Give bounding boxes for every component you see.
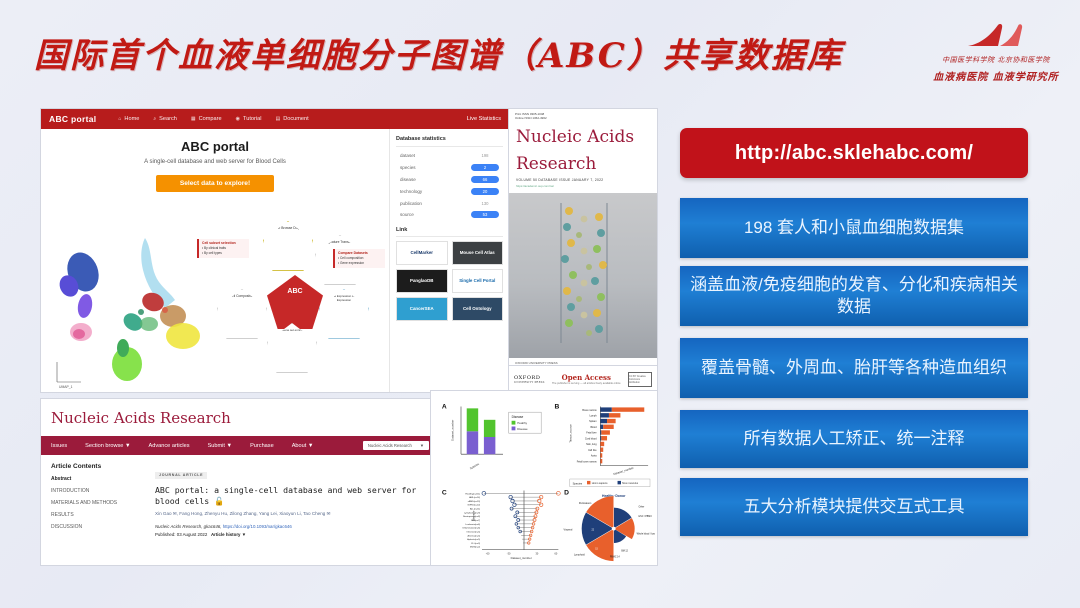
portal-nav-compare-label: Compare (199, 116, 222, 122)
stat-value-technology: 20 (471, 188, 499, 195)
article-citation: Nucleic Acids Research, gkac646, https:/… (155, 524, 429, 529)
select-data-button[interactable]: Select data to explore! (156, 175, 274, 192)
link-tiles: CellMarker Mouse Cell Atlas PanglaoDB Si… (396, 241, 503, 321)
article-history-toggle[interactable]: Article history ▼ (211, 532, 246, 537)
svg-text:Skin, lung: Skin, lung (586, 443, 597, 446)
nar-journal-cover: Print ISSN 0305-1048 Online ISSN 1362-49… (508, 108, 658, 393)
panel-a-label: A (442, 403, 447, 410)
panel-c-xlabel: Dataset_number (511, 556, 532, 560)
callout-right-title: Compare Datasets (338, 251, 368, 255)
umap-x-label: UMAP_1 (59, 385, 73, 389)
database-url-text: http://abc.sklehabc.com/ (735, 142, 973, 165)
feature-box-2: 涵盖血液/免疫细胞的发育、分化和疾病相关数据 (680, 266, 1028, 326)
database-statistics-heading: Database statistics (396, 136, 503, 147)
svg-text:-60: -60 (486, 552, 490, 555)
portal-nav-home[interactable]: ⌂ Home (118, 116, 139, 122)
portal-nav-tutorial-label: Tutorial (243, 116, 261, 122)
svg-text:-30: -30 (507, 552, 511, 555)
logo-line-2: 血液病医院 血液学研究所 (926, 68, 1066, 83)
svg-text:Bone marrow: Bone marrow (582, 409, 596, 412)
svg-text:Aplastic(n=5): Aplastic(n=5) (467, 538, 480, 541)
nar-nav-section-browse[interactable]: Section browse ▼ (85, 443, 130, 449)
stat-value-publication: 130 (471, 200, 499, 207)
svg-text:CLL(n=3): CLL(n=3) (471, 543, 480, 545)
citation-journal: Nucleic Acids Research, gkac646, (155, 524, 223, 529)
article-figure-panel: A Disease Healthy Disease Dataset_number… (430, 390, 658, 566)
feature-box-4-text: 所有数据人工矫正、统一注释 (744, 428, 965, 450)
portal-sidebar: Database statistics dataset 198 species … (389, 129, 509, 392)
panel-b-ylabel: Tissue_source (569, 424, 573, 443)
toc-item-materials-and-methods[interactable]: MATERIALS AND METHODS (51, 500, 151, 506)
svg-text:Healthy(n=111): Healthy(n=111) (465, 492, 480, 495)
svg-text:Spleen: Spleen (589, 420, 597, 423)
stat-row-publication: publication 130 (396, 197, 503, 209)
nar-article-body: Article Contents Abstract INTRODUCTION M… (41, 455, 439, 537)
cover-title-line2: Research (509, 147, 657, 173)
portal-nav-compare[interactable]: ▦ Compare (191, 116, 222, 122)
slide-header: 国际首个血液单细胞分子图谱（ABC）共享数据库 中国医学科学院 北京协和医学院 … (0, 0, 1080, 96)
home-icon: ⌂ (118, 116, 121, 122)
oxford-press-name: OXFORD (514, 375, 541, 381)
stat-label-publication: publication (400, 201, 422, 206)
svg-text:Blood: Blood (590, 426, 597, 429)
portal-nav-tutorial[interactable]: ◉ Tutorial (236, 116, 262, 122)
link-cancersea[interactable]: CancerSEA (396, 297, 448, 321)
article-contents-toc: Article Contents Abstract INTRODUCTION M… (51, 463, 151, 537)
svg-text:ALL(n=11): ALL(n=11) (470, 508, 480, 511)
portal-body: ABC portal A single-cell database and we… (41, 129, 509, 392)
published-date: 03 August 2022 (177, 532, 208, 537)
link-cell-ontology[interactable]: Cell Ontology (452, 297, 504, 321)
svg-text:60: 60 (555, 552, 558, 555)
institute-swoosh-logo (964, 22, 1026, 52)
feature-box-3-text: 覆盖骨髓、外周血、胎肝等各种造血组织 (701, 357, 1007, 379)
svg-text:Leukemia(n=6): Leukemia(n=6) (465, 524, 480, 526)
open-access-banner: OXFORD UNIVERSITY PRESS Open Access The … (508, 365, 658, 393)
svg-text:Aorta: Aorta (591, 455, 597, 458)
link-mouse-cell-atlas[interactable]: Mouse Cell Atlas (452, 241, 504, 265)
nar-nav-advance-articles[interactable]: Advance articles (149, 443, 190, 449)
open-access-title: Open Access (545, 373, 628, 382)
panel-a-legend-title: Disease (512, 415, 524, 419)
nar-nav-submit[interactable]: Submit ▼ (208, 443, 233, 449)
callout-cell-subset: Cell subset selection • By clinical trai… (197, 239, 249, 258)
feature-box-4: 所有数据人工矫正、统一注释 (680, 410, 1028, 468)
figure-multipanel-svg: A Disease Healthy Disease Dataset_number… (431, 391, 658, 566)
portal-hero-title: ABC portal (41, 139, 389, 154)
database-url-banner[interactable]: http://abc.sklehabc.com/ (680, 128, 1028, 178)
svg-text:Visceral: Visceral (564, 529, 573, 532)
toc-item-abstract[interactable]: Abstract (51, 476, 151, 482)
article-authors: Xin Gao ✉, Fang Hong, Zhenyu Hu, Zilong … (155, 511, 429, 518)
panel-d-rose-chart: Periosteum 21 Visceral 22 Lymphoid 15 Ot… (564, 490, 658, 566)
svg-text:Homo sapiens: Homo sapiens (592, 482, 609, 485)
umap-scatter-plot: UMAP_1 UMAP_2 (49, 224, 214, 389)
citation-doi-link[interactable]: https://doi.org/10.1093/nar/gkac646 (223, 524, 292, 529)
search-icon: ⌕ (153, 116, 156, 122)
svg-text:Other: Other (639, 506, 645, 509)
toc-item-discussion[interactable]: DISCUSSION (51, 524, 151, 530)
svg-text:HSC / PBMC: HSC / PBMC (639, 516, 653, 518)
nar-navbar: Issues Section browse ▼ Advance articles… (41, 436, 439, 455)
molecular-structure-graphic (509, 193, 657, 358)
callout-compare-datasets: Compare Datasets • Cell composition • Ge… (333, 249, 385, 268)
cover-title-line1: Nucleic Acids (509, 120, 657, 146)
stat-row-dataset: dataset 198 (396, 150, 503, 162)
panel-c-ylabel: Disease (471, 510, 475, 521)
journal-select-dropdown[interactable]: Nucleic Acids Research ▼ (363, 441, 429, 450)
feature-box-1-text: 198 套人和小鼠血细胞数据集 (744, 217, 964, 239)
portal-nav-home-label: Home (124, 116, 139, 122)
stat-row-source: source 53 (396, 209, 503, 221)
panel-b-legend-title: Species (573, 481, 583, 485)
feature-box-3: 覆盖骨髓、外周血、胎肝等各种造血组织 (680, 338, 1028, 398)
stat-value-dataset: 198 (471, 152, 499, 159)
live-statistics-link[interactable]: Live Statistics (467, 116, 501, 122)
portal-navbar: ABC portal ⌂ Home ⌕ Search ▦ Compare ◉ T… (41, 109, 509, 129)
callout-left-items: • By clinical traits • By cell types (202, 246, 246, 256)
panel-b-label: B (555, 403, 560, 410)
svg-text:GVHD(n=12): GVHD(n=12) (467, 505, 480, 507)
page-title: 国际首个血液单细胞分子图谱（ABC）共享数据库 (34, 28, 843, 77)
stat-label-technology: technology (400, 189, 422, 194)
svg-text:Anemia(n=5): Anemia(n=5) (467, 534, 480, 537)
institute-logo: 中国医学科学院 北京协和医学院 血液病医院 血液学研究所 (926, 22, 1066, 94)
svg-text:Fetal liver: Fetal liver (586, 432, 597, 435)
portal-nav-search[interactable]: ⌕ Search (153, 116, 177, 122)
portal-hero-subtitle: A single-cell database and web server fo… (41, 159, 389, 165)
toc-heading: Article Contents (51, 463, 151, 470)
feature-box-5-text: 五大分析模块提供交互式工具 (744, 496, 965, 518)
panel-b-xlabel: Dataset_number (613, 466, 634, 476)
tutorial-icon: ◉ (236, 116, 240, 122)
open-access-subtitle: The publisher is serving — all articles … (545, 382, 628, 385)
svg-text:Periosteum: Periosteum (579, 502, 591, 505)
toc-item-results[interactable]: RESULTS (51, 512, 151, 518)
svg-text:Infection(n=5): Infection(n=5) (467, 530, 481, 533)
nar-masthead: Nucleic Acids Research (41, 399, 439, 427)
article-main: JOURNAL ARTICLE ABC portal: a single-cel… (151, 463, 429, 537)
svg-text:Cell line: Cell line (588, 449, 597, 452)
portal-main: ABC portal A single-cell database and we… (41, 129, 389, 392)
svg-text:MDS(n=2): MDS(n=2) (470, 547, 480, 549)
svg-text:Whole blood / lymphoid: Whole blood / lymphoid (637, 533, 658, 535)
journal-select-value: Nucleic Acids Research (368, 443, 412, 448)
module-gene-expression[interactable]: Gene Expression Level Expression (319, 289, 369, 339)
stat-label-dataset: dataset (400, 153, 415, 158)
portal-brand[interactable]: ABC portal (49, 114, 96, 124)
stat-value-disease: 66 (471, 176, 499, 183)
svg-text:sBMD(n=13): sBMD(n=13) (468, 501, 481, 503)
stat-row-disease: disease 66 (396, 174, 503, 186)
module-cell-composition[interactable]: Cell Composition (217, 289, 267, 339)
nar-nav-about[interactable]: About ▼ (292, 443, 314, 449)
svg-text:Healthy: Healthy (517, 421, 527, 425)
svg-text:Mus musculus: Mus musculus (622, 482, 639, 485)
article-type-badge: JOURNAL ARTICLE (155, 472, 207, 479)
creative-commons-icon: CC BY Creative Commons Attribution (628, 372, 652, 387)
svg-text:Inflammation(n=6): Inflammation(n=6) (462, 527, 480, 530)
svg-text:30: 30 (535, 552, 538, 555)
nar-nav-purchase[interactable]: Purchase (250, 443, 274, 449)
callout-right-items: • Cell composition • Gene expression (338, 256, 382, 266)
stat-value-source: 53 (471, 211, 499, 218)
svg-text:Disease: Disease (517, 427, 528, 431)
article-title[interactable]: ABC portal: a single-cell database and w… (155, 485, 429, 507)
oxford-press-logo: OXFORD UNIVERSITY PRESS (514, 375, 545, 384)
analysis-modules-diagram: ABC Gene Browse Dotplot Signature Transi… (201, 217, 387, 392)
feature-box-1: 198 套人和小鼠血细胞数据集 (680, 198, 1028, 258)
feature-box-5: 五大分析模块提供交互式工具 (680, 478, 1028, 536)
module-deg-enrichment[interactable]: DEG/Gene set enrichment (267, 323, 317, 373)
svg-text:Lymphoid: Lymphoid (574, 553, 585, 556)
link-single-cell-portal[interactable]: Single Cell Portal (452, 269, 504, 293)
cover-url: https://academic.oup.com/nar (509, 182, 657, 188)
nar-article-screenshot: Nucleic Acids Research Issues Section br… (40, 398, 440, 566)
cover-artwork (509, 193, 657, 358)
svg-text:PBMC 14: PBMC 14 (610, 556, 620, 558)
module-center-abc: ABC (267, 275, 323, 329)
compare-icon: ▦ (191, 116, 196, 122)
nar-nav-issues[interactable]: Issues (51, 443, 67, 449)
document-icon: ▤ (275, 116, 280, 122)
link-heading: Link (396, 227, 503, 237)
stat-label-species: species (400, 165, 416, 170)
article-published: Published: 03 August 2022 Article histor… (155, 532, 429, 537)
stat-label-source: source (400, 212, 414, 217)
chevron-down-icon: ▼ (420, 443, 424, 448)
oxford-press-subtitle: UNIVERSITY PRESS (514, 381, 545, 384)
portal-nav-document[interactable]: ▤ Document (275, 116, 308, 122)
published-label: Published: (155, 532, 176, 537)
feature-box-2-text: 涵盖血液/免疫细胞的发育、分化和疾病相关数据 (690, 274, 1018, 318)
portal-nav-search-label: Search (159, 116, 177, 122)
stat-label-disease: disease (400, 177, 416, 182)
svg-text:Cord blood: Cord blood (585, 437, 597, 440)
cover-issn: Print ISSN 0305-1048 Online ISSN 1362-49… (509, 109, 657, 120)
link-panglaodb[interactable]: PanglaoDB (396, 269, 448, 293)
link-cellmarker[interactable]: CellMarker (396, 241, 448, 265)
panel-c-label: C (442, 489, 447, 496)
svg-text:Fetal bone marrow: Fetal bone marrow (577, 460, 597, 463)
stat-row-technology: technology 20 (396, 185, 503, 197)
portal-nav-document-label: Document (283, 116, 309, 122)
callout-left-title: Cell subset selection (202, 241, 236, 245)
svg-text:AML(n=14): AML(n=14) (469, 496, 480, 499)
cover-volume-meta: VOLUME 50 DATABASE ISSUE JANUARY 7, 2022 (509, 173, 657, 182)
stat-value-species: 2 (471, 164, 499, 171)
panel-d-label: D (564, 489, 569, 496)
open-access-text: Open Access The publisher is serving — a… (545, 373, 628, 385)
stat-row-species: species 2 (396, 162, 503, 174)
toc-item-introduction[interactable]: INTRODUCTION (51, 488, 151, 494)
panel-a-ylabel: Dataset_number (450, 420, 454, 441)
panel-a-xlabel: Species (469, 461, 480, 470)
logo-line-1: 中国医学科学院 北京协和医学院 (926, 55, 1066, 65)
svg-text:BM 12: BM 12 (621, 551, 628, 553)
module-gene-browse[interactable]: Gene Browse Dotplot (263, 221, 313, 271)
svg-text:Lymph: Lymph (589, 414, 597, 417)
abc-portal-screenshot: ABC portal ⌂ Home ⌕ Search ▦ Compare ◉ T… (40, 108, 510, 393)
